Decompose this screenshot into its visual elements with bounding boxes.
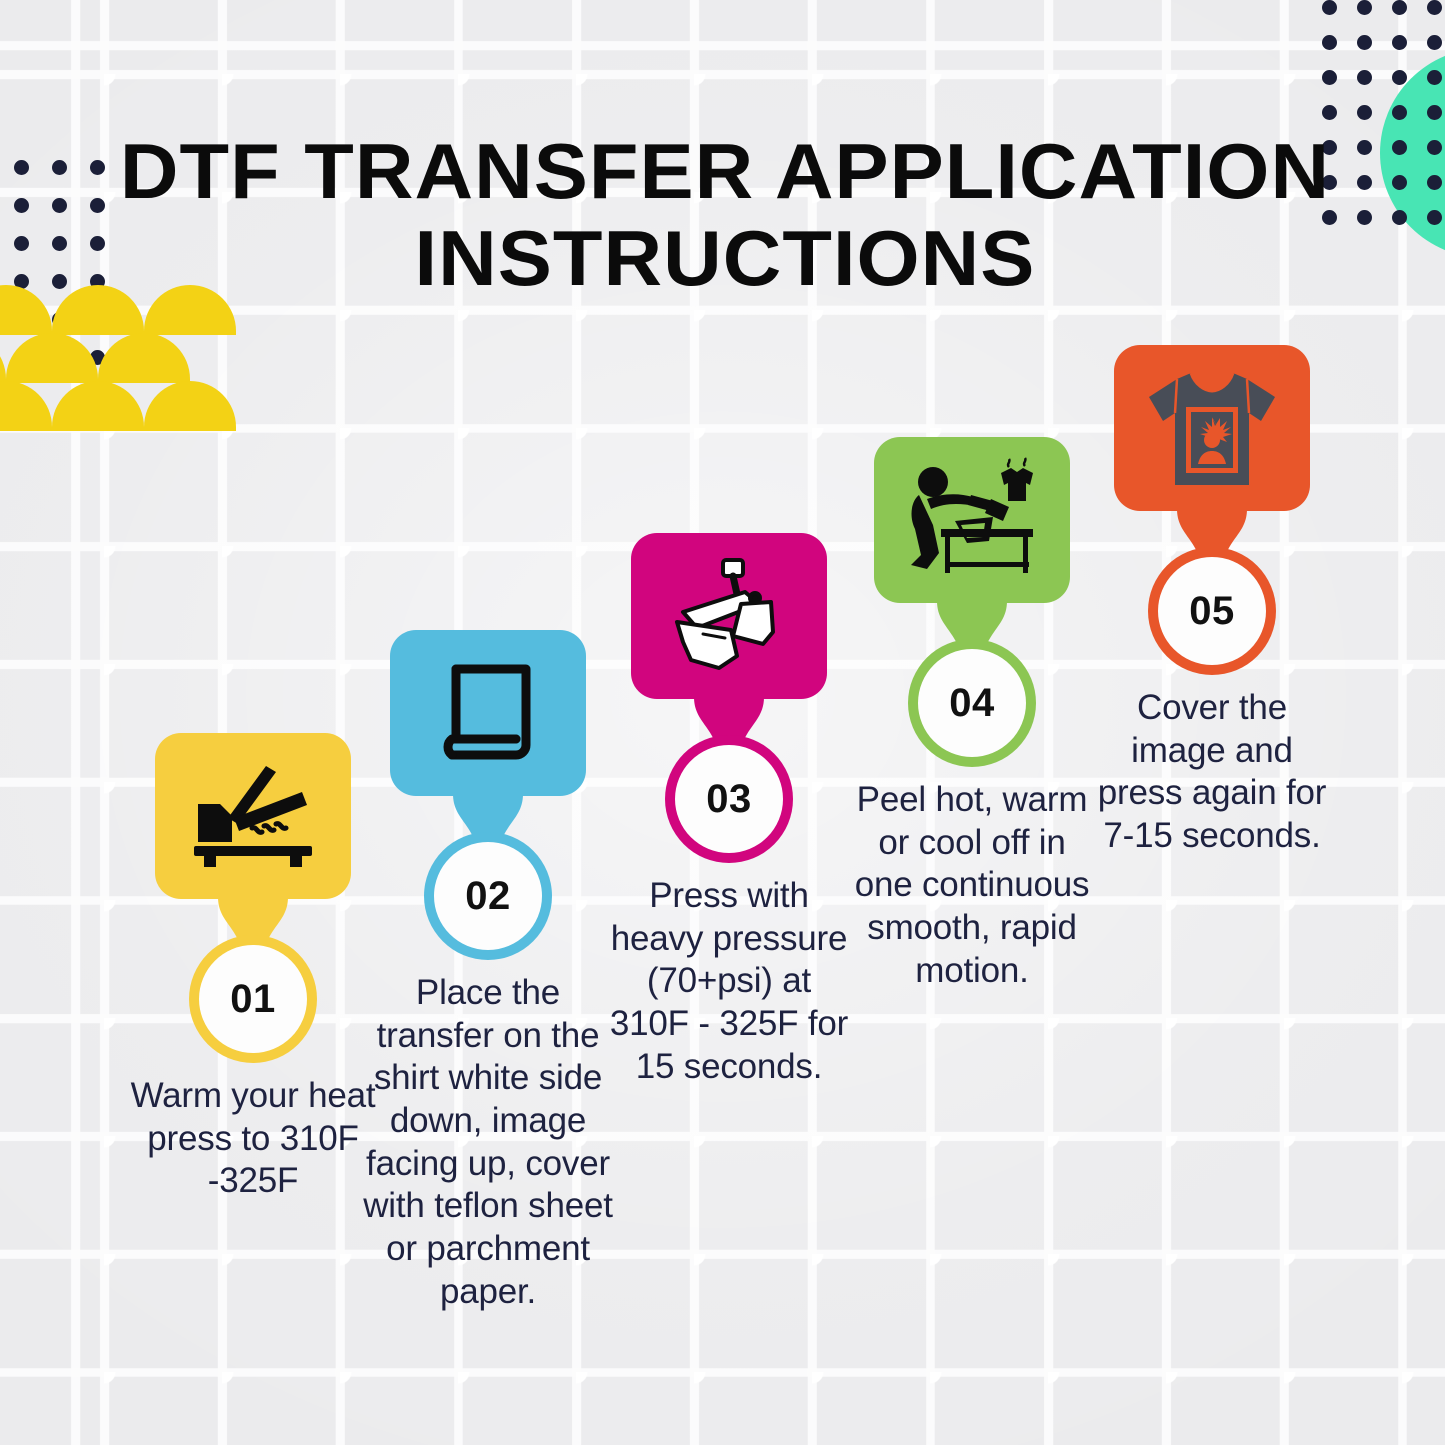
peel-transfer-person-icon [897, 457, 1047, 583]
transfer-sheet-icon [434, 661, 542, 765]
step-05-caption: Cover the image and press again for 7-15… [1087, 687, 1337, 858]
step-03-caption: Press with heavy pressure (70+psi) at 31… [604, 875, 854, 1088]
step-02[interactable]: 02 Place the transfer on the shirt white… [363, 630, 613, 1314]
step-03-number-badge: 03 [675, 745, 783, 853]
step-05-card[interactable] [1114, 345, 1310, 511]
step-05[interactable]: 05 Cover the image and press again for 7… [1087, 345, 1337, 858]
step-02-caption: Place the transfer on the shirt white si… [363, 972, 613, 1314]
step-04-number-badge: 04 [918, 649, 1026, 757]
step-01-number-badge: 01 [199, 945, 307, 1053]
steps-container: 01 Warm your heat press to 310F -325F [0, 0, 1445, 1445]
heat-press-machine-icon [667, 556, 791, 676]
step-02-number: 02 [465, 874, 511, 919]
step-03-card[interactable] [631, 533, 827, 699]
step-01-number: 01 [230, 977, 276, 1022]
step-02-card[interactable] [390, 630, 586, 796]
step-02-number-badge: 02 [434, 842, 542, 950]
heat-press-open-icon [190, 762, 316, 870]
step-01-caption: Warm your heat press to 310F -325F [128, 1075, 378, 1203]
step-05-number-badge: 05 [1158, 557, 1266, 665]
step-04-card[interactable] [874, 437, 1070, 603]
step-05-number: 05 [1189, 589, 1235, 634]
step-01[interactable]: 01 Warm your heat press to 310F -325F [128, 733, 378, 1203]
step-01-card[interactable] [155, 733, 351, 899]
step-03-number: 03 [706, 777, 752, 822]
step-04-number: 04 [949, 681, 995, 726]
printed-tshirt-icon [1145, 365, 1279, 491]
step-03[interactable]: 03 Press with heavy pressure (70+psi) at… [604, 533, 854, 1088]
step-04-caption: Peel hot, warm or cool off in one contin… [847, 779, 1097, 992]
step-04[interactable]: 04 Peel hot, warm or cool off in one con… [847, 437, 1097, 992]
infographic-canvas: DTF TRANSFER APPLICATION INSTRUCTIONS [0, 0, 1445, 1445]
